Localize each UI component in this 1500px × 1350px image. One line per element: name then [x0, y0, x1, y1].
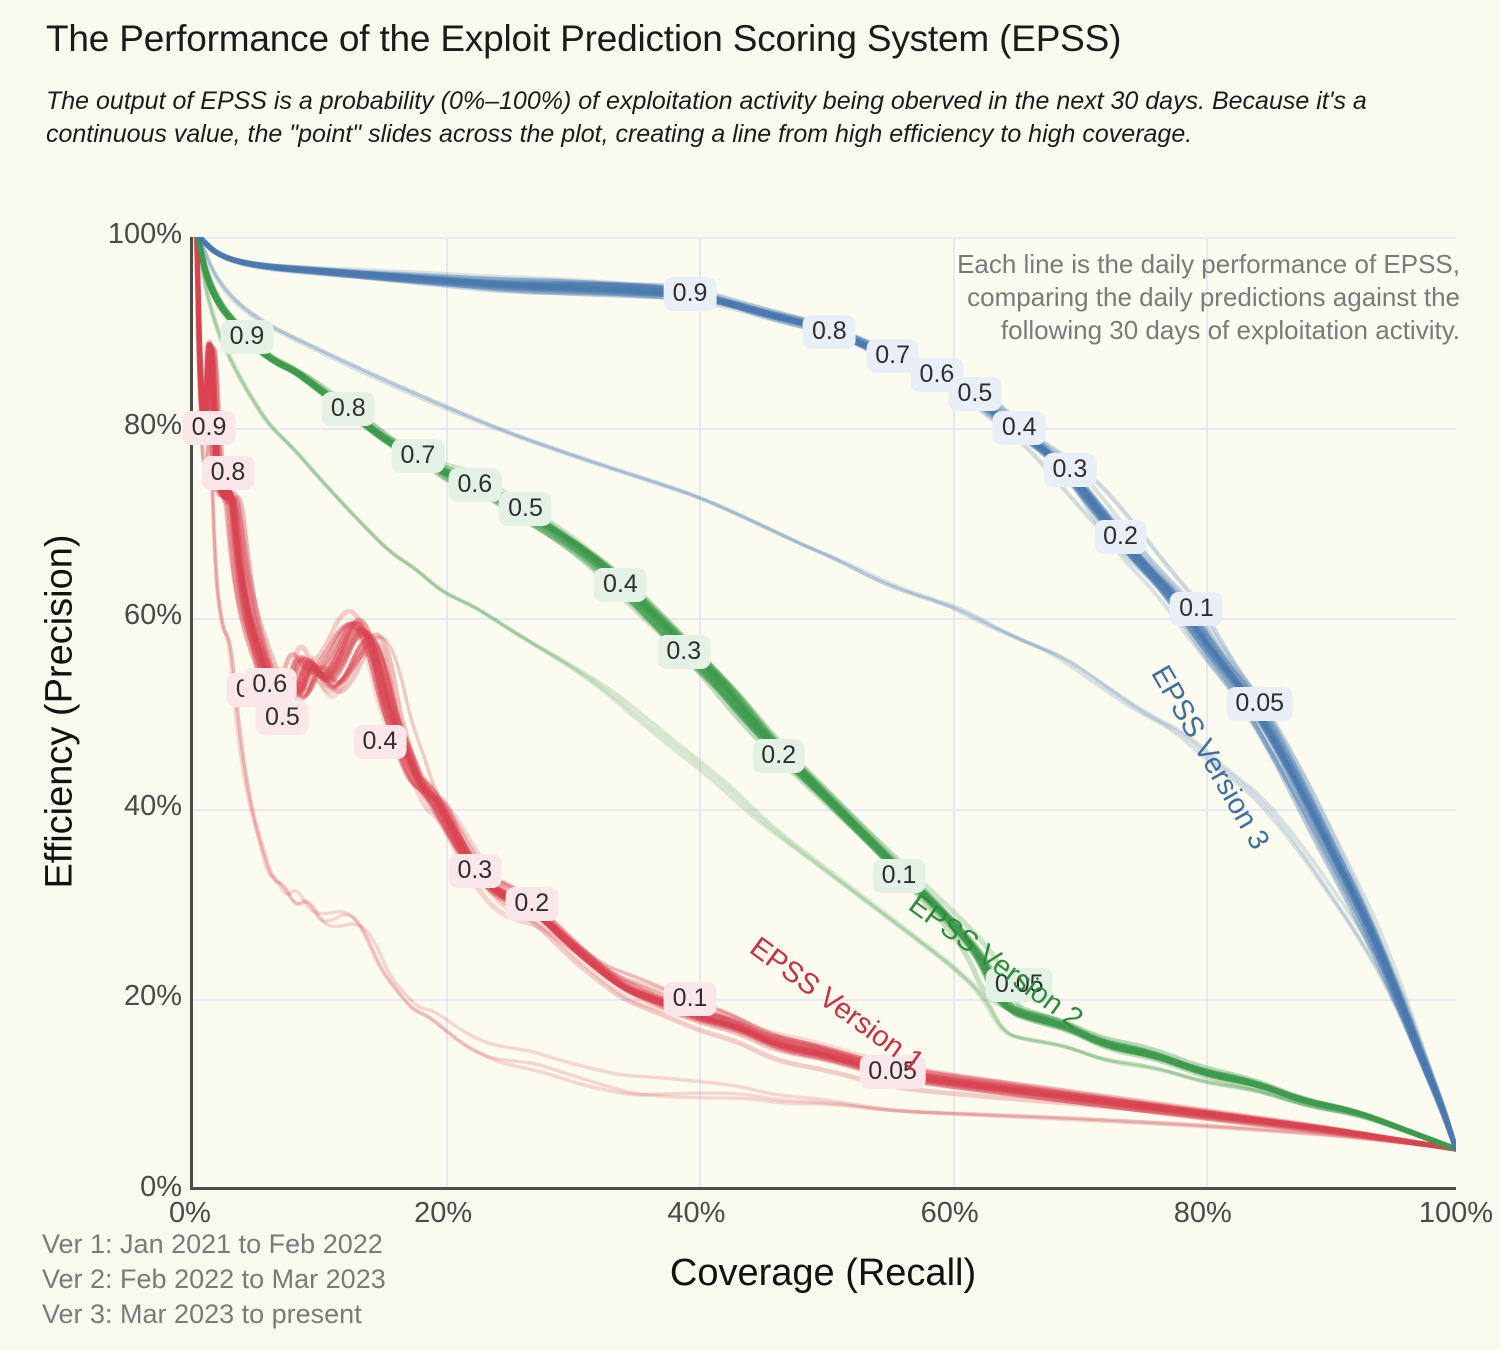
- threshold-label: 0.8: [803, 315, 856, 349]
- y-axis-tick: 60%: [124, 599, 182, 632]
- y-axis-tick: 80%: [124, 409, 182, 442]
- threshold-label: 0.9: [664, 277, 717, 311]
- threshold-label: 0.4: [354, 725, 407, 759]
- x-axis-tick: 0%: [169, 1197, 211, 1230]
- threshold-label: 0.2: [1094, 520, 1147, 554]
- x-axis-tick: 20%: [414, 1197, 472, 1230]
- threshold-label: 0.8: [322, 392, 375, 426]
- chart-subtitle: The output of EPSS is a probability (0%–…: [46, 85, 1466, 152]
- threshold-label: 0.7: [391, 439, 444, 473]
- chart-page: The Performance of the Exploit Predictio…: [0, 0, 1500, 1350]
- threshold-label: 0.3: [1043, 453, 1096, 487]
- x-axis-tick: 40%: [667, 1197, 725, 1230]
- y-axis-label: Efficiency (Precision): [39, 262, 82, 1162]
- threshold-label: 0.9: [221, 320, 274, 354]
- y-axis-tick: 100%: [108, 218, 182, 251]
- x-axis-tick: 80%: [1174, 1197, 1232, 1230]
- x-axis-tick: 100%: [1419, 1197, 1493, 1230]
- chart-annotation: Each line is the daily performance of EP…: [920, 248, 1460, 346]
- y-axis-tick: 40%: [124, 790, 182, 823]
- threshold-label: 0.05: [1226, 687, 1293, 721]
- threshold-label: 0.6: [243, 668, 296, 702]
- page-title: The Performance of the Exploit Predictio…: [46, 18, 1121, 60]
- threshold-label: 0.1: [664, 982, 717, 1016]
- threshold-label: 0.5: [256, 701, 309, 735]
- threshold-label: 0.1: [873, 859, 926, 893]
- threshold-label: 0.2: [505, 887, 558, 921]
- threshold-label: 0.3: [448, 854, 501, 888]
- threshold-label: 0.8: [202, 456, 255, 490]
- x-axis-tick: 60%: [921, 1197, 979, 1230]
- threshold-label: 0.2: [752, 739, 805, 773]
- threshold-label: 0.4: [594, 568, 647, 602]
- version-date-ranges: Ver 1: Jan 2021 to Feb 2022 Ver 2: Feb 2…: [42, 1227, 386, 1332]
- threshold-label: 0.5: [499, 492, 552, 526]
- threshold-label: 0.1: [1170, 592, 1223, 626]
- y-axis-tick: 20%: [124, 980, 182, 1013]
- threshold-label: 0.3: [657, 635, 710, 669]
- threshold-label: 0.6: [448, 468, 501, 502]
- threshold-label: 0.5: [949, 377, 1002, 411]
- threshold-label: 0.4: [993, 411, 1046, 445]
- threshold-label: 0.9: [183, 411, 236, 445]
